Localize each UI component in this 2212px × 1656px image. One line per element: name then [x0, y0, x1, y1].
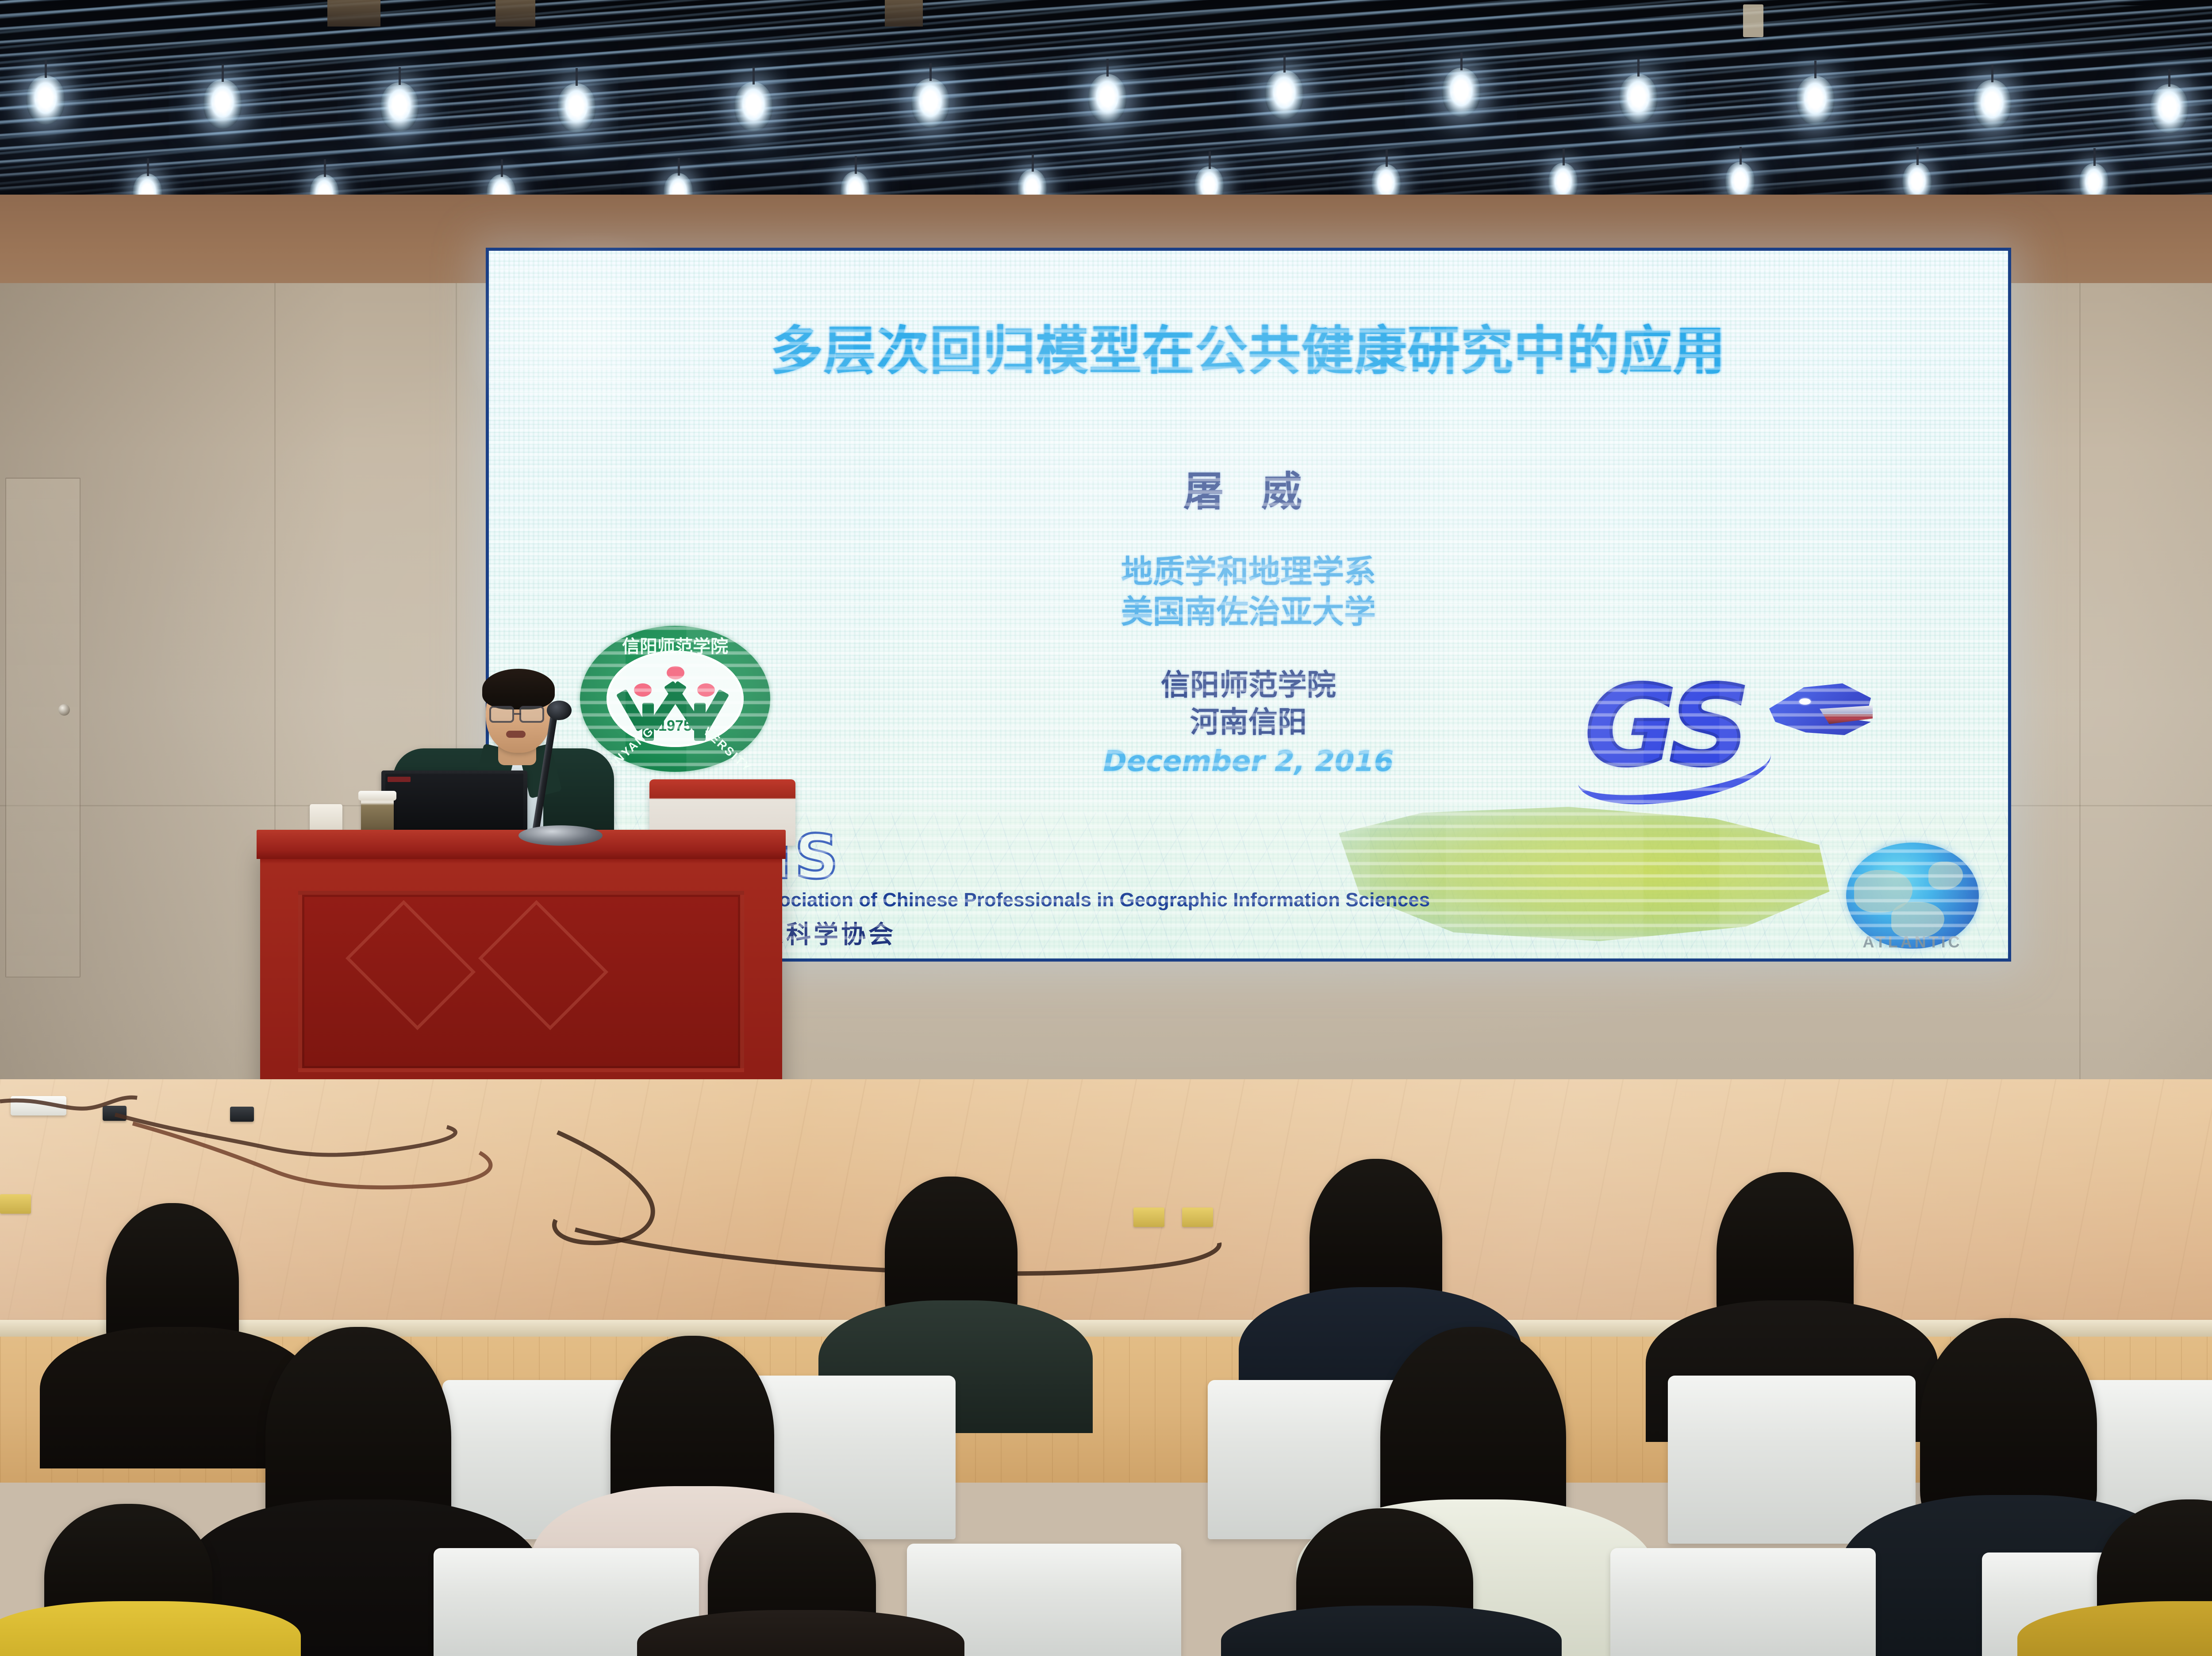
- presenter-hair: [482, 669, 555, 709]
- slide-affiliation-line1: 地质学和地理学系: [489, 552, 2008, 592]
- globe-logo: ATLANTIC: [1846, 843, 1979, 949]
- ceiling-spotlight: [1265, 70, 1303, 119]
- slide-affiliation: 地质学和地理学系 美国南佐治亚大学: [489, 552, 2008, 632]
- presenter-mouth: [506, 731, 526, 738]
- ceiling-spotlight: [2150, 84, 2188, 134]
- auditorium-scene: 多层次回归模型在公共健康研究中的应用 屠 威 地质学和地理学系 美国南佐治亚大学…: [0, 0, 2212, 1656]
- slide-title: 多层次回归模型在公共健康研究中的应用: [489, 308, 2008, 384]
- podium-front-panel: [298, 891, 744, 1072]
- podium-diamond-relief-right: [478, 900, 608, 1030]
- door-left[interactable]: [5, 478, 81, 977]
- ceiling-spotlight: [1442, 68, 1480, 117]
- ceiling-spotlight: [911, 78, 949, 128]
- tape-block: [0, 1194, 31, 1214]
- ceiling-sprinkler: [1743, 4, 1763, 37]
- ceiling-spotlight: [27, 75, 65, 125]
- ceiling-spotlight: [557, 83, 595, 133]
- eyeglasses-left-lens-icon: [489, 706, 514, 723]
- laptop-brand-logo: [388, 777, 411, 782]
- microphone-head-icon[interactable]: [547, 701, 572, 720]
- ceiling-truss: [885, 0, 923, 27]
- eyeglasses-right-lens-icon: [519, 706, 544, 723]
- power-adapter[interactable]: [230, 1107, 254, 1122]
- power-adapter[interactable]: [103, 1106, 127, 1121]
- door-knob-icon[interactable]: [58, 704, 70, 716]
- globe-caption: ATLANTIC: [1846, 933, 1979, 951]
- ceiling-spotlight: [734, 82, 772, 131]
- ceiling-spotlight: [1619, 74, 1657, 123]
- ceiling-spotlight: [204, 79, 242, 129]
- audience-chair[interactable]: [1610, 1548, 1876, 1656]
- ceiling-spotlight: [1796, 76, 1834, 125]
- ceiling-spotlight: [1088, 74, 1126, 123]
- seal-inner-field: 1975: [607, 651, 744, 747]
- seal-year: 1975: [607, 717, 744, 735]
- ceiling-truss: [327, 0, 380, 27]
- gs-eagle-logo: GS: [1585, 658, 1877, 835]
- tape-block: [1182, 1207, 1213, 1227]
- ceiling-spotlight: [1973, 80, 2011, 129]
- cup-lid: [358, 791, 396, 801]
- audience: [0, 1353, 2212, 1656]
- university-seal-logo: 1975 XINYANG VERSITY 信阳师范学院: [580, 626, 770, 772]
- stage-floor: [0, 1079, 2212, 1327]
- power-strip[interactable]: [11, 1096, 66, 1115]
- microphone-base: [518, 825, 603, 846]
- eyeglasses-bridge-icon: [514, 713, 521, 715]
- tape-block: [1133, 1207, 1164, 1227]
- stage-floor-sheen: [0, 1079, 2212, 1327]
- slide-author: 屠 威: [489, 459, 2008, 517]
- ceiling-spotlight: [380, 82, 419, 132]
- ceiling-truss: [495, 0, 535, 27]
- podium-diamond-relief-left: [346, 900, 476, 1030]
- eagle-eye-icon: [1799, 698, 1811, 705]
- audience-chair[interactable]: [1668, 1376, 1916, 1544]
- seal-name-cn: 信阳师范学院: [580, 632, 770, 658]
